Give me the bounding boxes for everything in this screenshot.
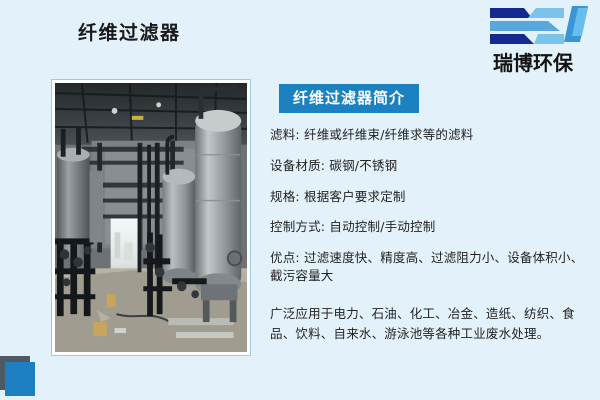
equipment-photo [55,83,247,352]
page-title: 纤维过滤器 [78,22,181,45]
spec-value-material: 碳钢/不锈钢 [329,158,397,173]
spec-label-filter-media: 滤料: [270,127,300,142]
spec-value-control-mode: 自动控制/手动控制 [329,219,435,234]
spec-row-control-mode: 控制方式: 自动控制/手动控制 [270,218,594,236]
spec-label-material: 设备材质: [270,158,325,173]
equipment-photo-frame [51,79,251,356]
spec-value-advantages: 过滤速度快、精度高、过滤阻力小、设备体积小、截污容量大 [270,250,583,283]
decorative-square-blue [5,362,35,396]
info-panel: 纤维过滤器简介 滤料: 纤维或纤维束/纤维求等的滤料 设备材质: 碳钢/不锈钢 … [270,84,594,364]
spec-label-advantages: 优点: [270,250,300,265]
decorative-squares [0,348,58,400]
spec-row-filter-media: 滤料: 纤维或纤维束/纤维求等的滤料 [270,126,594,144]
spec-value-specification: 根据客户要求定制 [304,189,406,204]
spec-row-advantages: 优点: 过滤速度快、精度高、过滤阻力小、设备体积小、截污容量大 [270,249,594,285]
slide-canvas: 纤维过滤器 瑞博环保 [0,0,600,400]
spec-list: 滤料: 纤维或纤维束/纤维求等的滤料 设备材质: 碳钢/不锈钢 规格: 根据客户… [270,126,594,285]
spec-row-material: 设备材质: 碳钢/不锈钢 [270,157,594,175]
logo-mark-icon [488,6,588,48]
spec-value-filter-media: 纤维或纤维束/纤维求等的滤料 [304,127,474,142]
brand-name: 瑞博环保 [474,47,592,76]
panel-header: 纤维过滤器简介 [279,84,419,113]
spec-label-specification: 规格: [270,189,300,204]
brand-logo: 瑞博环保 [474,4,592,80]
application-description: 广泛应用于电力、石油、化工、冶金、造纸、纺织、食品、饮料、自来水、游泳池等各种工… [270,304,594,345]
spec-row-specification: 规格: 根据客户要求定制 [270,188,594,206]
spec-label-control-mode: 控制方式: [270,219,325,234]
